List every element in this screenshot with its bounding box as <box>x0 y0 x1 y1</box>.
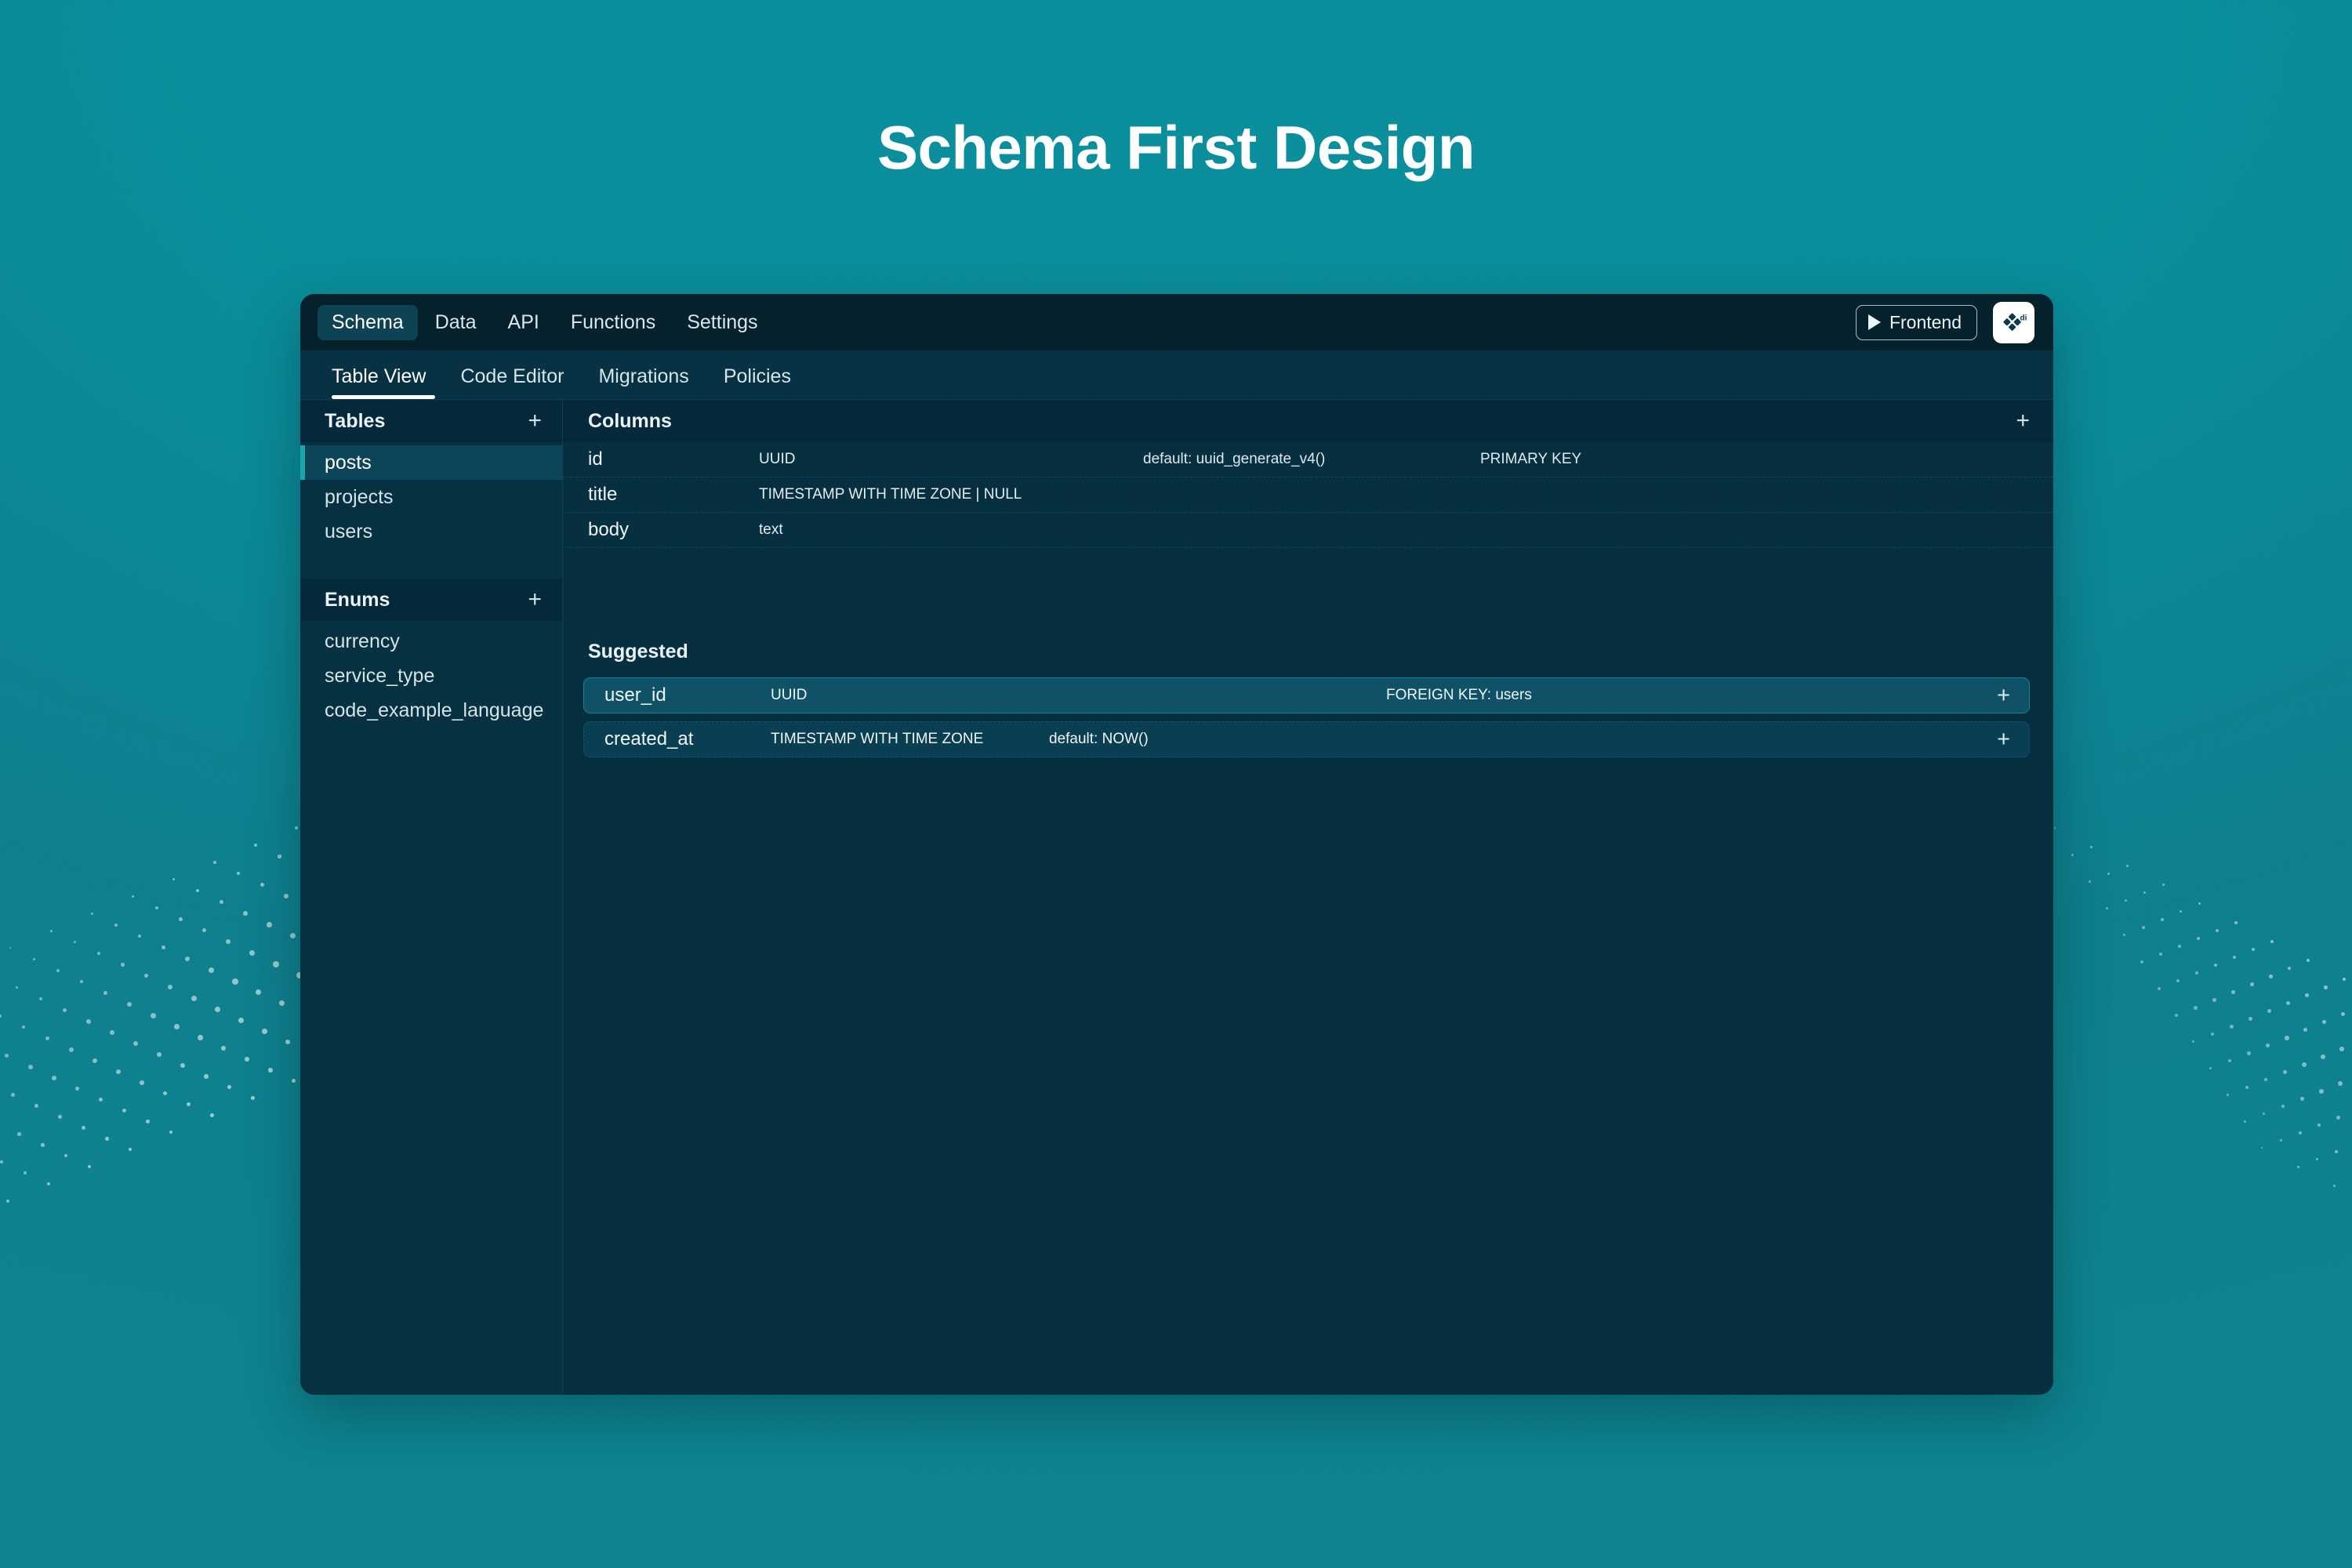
add-suggested-column-icon[interactable]: + <box>1997 684 2010 707</box>
sidebar-item-service_type[interactable]: service_type <box>300 659 562 693</box>
subtab-code-editor[interactable]: Code Editor <box>443 365 581 399</box>
sidebar-item-users[interactable]: users <box>300 514 562 549</box>
sidebar: Tables + postsprojectsusers Enums + curr… <box>300 400 563 1395</box>
tab-schema[interactable]: Schema <box>318 305 418 340</box>
sidebar-item-projects[interactable]: projects <box>300 480 562 514</box>
suggested-column-type: UUID <box>771 687 1049 704</box>
column-name: body <box>588 519 759 541</box>
table-row[interactable]: bodytext <box>563 513 2053 548</box>
add-enum-icon[interactable]: + <box>528 588 542 612</box>
table-row[interactable]: idUUIDdefault: uuid_generate_v4()PRIMARY… <box>563 442 2053 477</box>
columns-heading: Columns <box>588 410 672 433</box>
suggested-column-name: created_at <box>604 728 771 750</box>
page-title: Schema First Design <box>0 114 2352 182</box>
column-key: PRIMARY KEY <box>1480 451 2028 468</box>
add-table-icon[interactable]: + <box>528 409 542 433</box>
sidebar-item-posts[interactable]: posts <box>300 445 562 480</box>
column-name: title <box>588 484 759 506</box>
subtab-migrations[interactable]: Migrations <box>581 365 706 399</box>
frontend-button-label: Frontend <box>1889 312 1962 333</box>
table-row[interactable]: titleTIMESTAMP WITH TIME ZONE | NULL <box>563 477 2053 513</box>
workspace: Tables + postsprojectsusers Enums + curr… <box>300 400 2053 1395</box>
suggested-row[interactable]: user_idUUIDFOREIGN KEY: users+ <box>583 677 2030 713</box>
suggested-column-default: default: NOW() <box>1049 731 1386 748</box>
play-icon <box>1868 314 1881 330</box>
column-default: default: uuid_generate_v4() <box>1143 451 1480 468</box>
suggested-row[interactable]: created_atTIMESTAMP WITH TIME ZONEdefaul… <box>583 721 2030 757</box>
svg-text:di: di <box>2020 314 2027 323</box>
suggested-column-name: user_id <box>604 684 771 706</box>
di-diamond-icon: di <box>2001 309 2027 336</box>
column-type: TIMESTAMP WITH TIME ZONE | NULL <box>759 486 1143 503</box>
sidebar-tables-list: postsprojectsusers <box>300 442 562 549</box>
di-diamond-logo[interactable]: di <box>1993 302 2034 343</box>
top-bar-actions: Frontend di <box>1856 302 2034 343</box>
sidebar-enums-list: currencyservice_typecode_example_languag… <box>300 621 562 728</box>
main-panel: Columns + idUUIDdefault: uuid_generate_v… <box>563 400 2053 1395</box>
primary-nav: SchemaDataAPIFunctionsSettings <box>318 305 772 340</box>
suggested-heading: Suggested <box>563 641 2053 663</box>
add-suggested-column-icon[interactable]: + <box>1997 728 2010 751</box>
suggested-list: user_idUUIDFOREIGN KEY: users+created_at… <box>563 677 2053 757</box>
subtab-policies[interactable]: Policies <box>706 365 808 399</box>
sidebar-item-currency[interactable]: currency <box>300 624 562 659</box>
subtab-table-view[interactable]: Table View <box>321 365 443 399</box>
frontend-button[interactable]: Frontend <box>1856 305 1977 340</box>
suggested-column-type: TIMESTAMP WITH TIME ZONE <box>771 731 1049 748</box>
tab-functions[interactable]: Functions <box>557 305 670 340</box>
tab-settings[interactable]: Settings <box>673 305 771 340</box>
top-bar: SchemaDataAPIFunctionsSettings Frontend … <box>300 294 2053 350</box>
secondary-nav: Table ViewCode EditorMigrationsPolicies <box>300 350 2053 400</box>
column-name: id <box>588 448 759 470</box>
sidebar-enums-heading: Enums <box>325 589 390 612</box>
column-type: text <box>759 521 1143 539</box>
sidebar-section-enums-header: Enums + <box>300 579 562 621</box>
columns-table: idUUIDdefault: uuid_generate_v4()PRIMARY… <box>563 442 2053 548</box>
app-window: SchemaDataAPIFunctionsSettings Frontend … <box>300 294 2053 1395</box>
add-column-icon[interactable]: + <box>2016 409 2030 433</box>
sidebar-tables-heading: Tables <box>325 410 385 433</box>
tab-data[interactable]: Data <box>421 305 491 340</box>
sidebar-item-code_example_language[interactable]: code_example_language <box>300 693 562 728</box>
columns-panel-header: Columns + <box>563 400 2053 442</box>
sidebar-spacer <box>300 549 562 579</box>
sidebar-section-tables-header: Tables + <box>300 400 562 442</box>
tab-api[interactable]: API <box>494 305 554 340</box>
suggested-column-key: FOREIGN KEY: users <box>1386 687 1997 704</box>
column-type: UUID <box>759 451 1143 468</box>
